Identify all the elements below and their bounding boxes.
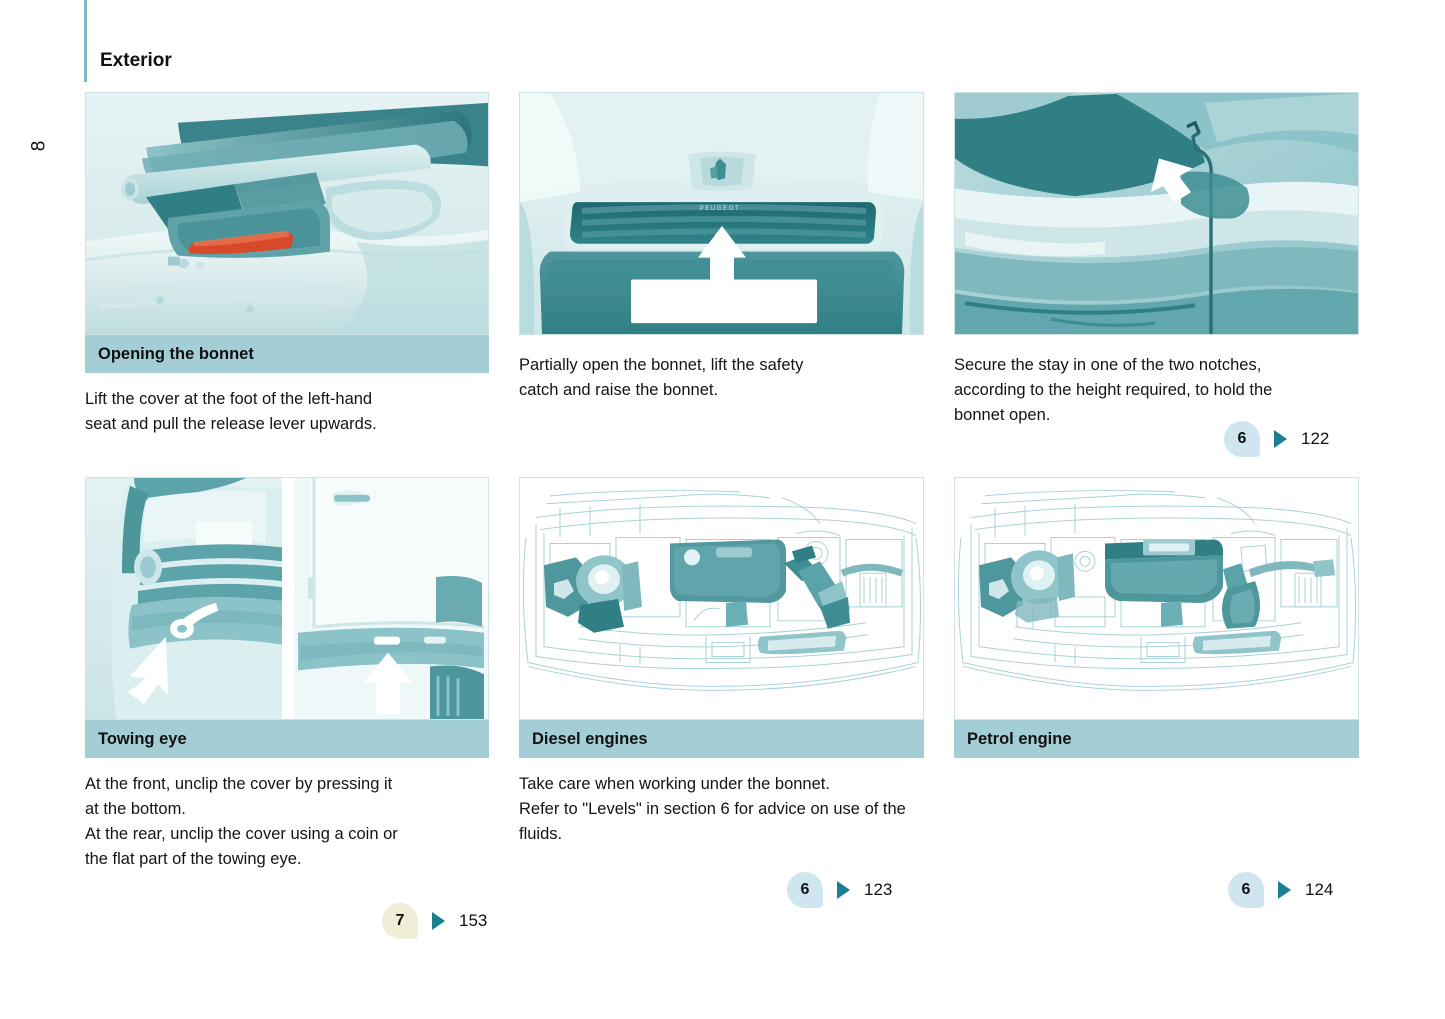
body-line: Take care when working under the bonnet. xyxy=(519,772,924,797)
triangle-right-icon xyxy=(432,912,445,930)
seat-base-release-lever-graphic xyxy=(86,93,488,334)
body-line: At the rear, unclip the cover using a co… xyxy=(85,822,489,847)
panel-body-text: Lift the cover at the foot of the left-h… xyxy=(85,387,489,437)
panel-body-text: Take care when working under the bonnet.… xyxy=(519,772,924,847)
body-line: Lift the cover at the foot of the left-h… xyxy=(85,387,489,412)
panel-opening-the-bonnet: Opening the bonnet Lift the cover at the… xyxy=(85,92,489,437)
figure: PEUGEOT xyxy=(519,92,924,335)
figure: Towing eye xyxy=(85,477,489,758)
section-badge: 6 xyxy=(1224,421,1260,457)
body-line: Secure the stay in one of the two notche… xyxy=(954,353,1359,378)
panel-bonnet-stay: Secure the stay in one of the two notche… xyxy=(954,92,1359,428)
diesel-engine-bay-graphic xyxy=(520,478,923,719)
panel-body-text: Secure the stay in one of the two notche… xyxy=(954,353,1359,428)
triangle-right-icon xyxy=(837,881,850,899)
body-line: seat and pull the release lever upwards. xyxy=(85,412,489,437)
body-line: according to the height required, to hol… xyxy=(954,378,1359,403)
panel-caption: Opening the bonnet xyxy=(85,335,489,373)
page-number: 8 xyxy=(28,141,50,152)
panel-petrol-engine: Petrol engine xyxy=(954,477,1359,758)
petrol-engine-bay-illustration xyxy=(954,477,1359,720)
cross-reference-page: 124 xyxy=(1305,880,1333,900)
section-badge: 7 xyxy=(382,903,418,939)
cross-reference-124[interactable]: 6 124 xyxy=(1228,872,1333,908)
panel-safety-catch: PEUGEOT Partially open the bonnet, lift … xyxy=(519,92,924,403)
panel-caption: Towing eye xyxy=(85,720,489,758)
svg-text:PEUGEOT: PEUGEOT xyxy=(700,206,741,212)
seat-base-release-lever-illustration xyxy=(85,92,489,335)
manual-page: 8 Exterior xyxy=(0,0,1445,1019)
section-badge: 6 xyxy=(787,872,823,908)
figure xyxy=(954,92,1359,335)
body-line: At the front, unclip the cover by pressi… xyxy=(85,772,489,797)
section-accent-rule xyxy=(84,0,87,82)
petrol-engine-bay-graphic xyxy=(955,478,1358,719)
towing-eye-graphic xyxy=(86,478,488,719)
panel-body-text: Partially open the bonnet, lift the safe… xyxy=(519,353,924,403)
section-badge: 6 xyxy=(1228,872,1264,908)
cross-reference-page: 122 xyxy=(1301,429,1329,449)
panel-caption: Petrol engine xyxy=(954,720,1359,758)
cross-reference-122[interactable]: 6 122 xyxy=(1224,421,1329,457)
body-line: Partially open the bonnet, lift the safe… xyxy=(519,353,924,378)
front-grille-safety-catch-illustration: PEUGEOT xyxy=(519,92,924,335)
figure: Opening the bonnet xyxy=(85,92,489,373)
cross-reference-page: 153 xyxy=(459,911,487,931)
panel-caption: Diesel engines xyxy=(519,720,924,758)
cross-reference-153[interactable]: 7 153 xyxy=(382,903,487,939)
cross-reference-123[interactable]: 6 123 xyxy=(787,872,892,908)
figure: Diesel engines xyxy=(519,477,924,758)
panel-body-text: At the front, unclip the cover by pressi… xyxy=(85,772,489,872)
diesel-engine-bay-illustration xyxy=(519,477,924,720)
triangle-right-icon xyxy=(1274,430,1287,448)
towing-eye-front-rear-illustration xyxy=(85,477,489,720)
body-line: the flat part of the towing eye. xyxy=(85,847,489,872)
triangle-right-icon xyxy=(1278,881,1291,899)
body-line: at the bottom. xyxy=(85,797,489,822)
figure: Petrol engine xyxy=(954,477,1359,758)
bonnet-stay-notch-illustration xyxy=(954,92,1359,335)
panel-towing-eye: Towing eye At the front, unclip the cove… xyxy=(85,477,489,872)
cross-reference-page: 123 xyxy=(864,880,892,900)
panel-diesel-engines: Diesel engines Take care when working un… xyxy=(519,477,924,847)
page-title: Exterior xyxy=(100,50,172,72)
front-grille-graphic: PEUGEOT xyxy=(520,93,923,334)
bonnet-stay-graphic xyxy=(955,93,1358,334)
body-line: catch and raise the bonnet. xyxy=(519,378,924,403)
body-line: Refer to "Levels" in section 6 for advic… xyxy=(519,797,924,847)
